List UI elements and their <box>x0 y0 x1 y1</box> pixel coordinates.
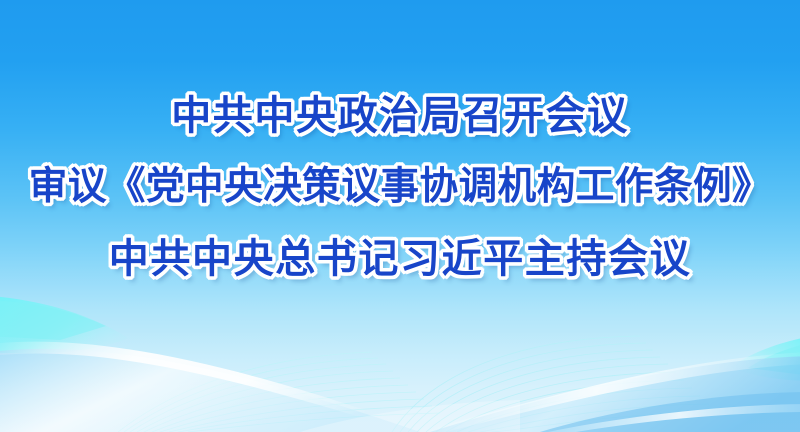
news-headline-poster: 中共中央政治局召开会议 审议《党中央决策议事协调机构工作条例》 中共中央总书记习… <box>0 0 800 432</box>
headline-line-2: 审议《党中央决策议事协调机构工作条例》 <box>29 168 771 207</box>
headline-line-1: 中共中央政治局召开会议 <box>171 96 629 136</box>
headline-block: 中共中央政治局召开会议 审议《党中央决策议事协调机构工作条例》 中共中央总书记习… <box>0 0 800 432</box>
headline-line-3: 中共中央总书记习近平主持会议 <box>109 239 691 279</box>
